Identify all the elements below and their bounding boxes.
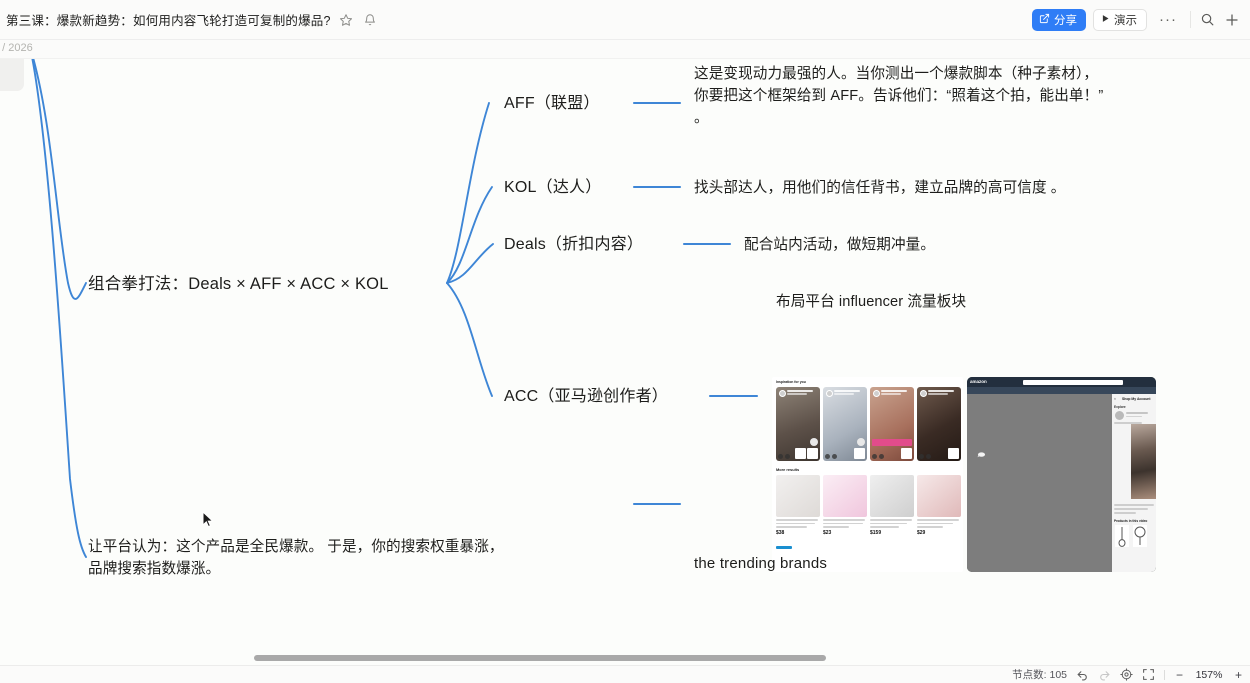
zoom-level-label[interactable]: 157% xyxy=(1194,669,1224,681)
panel-products-heading: Products in this video xyxy=(1114,519,1147,523)
panel-text-line xyxy=(1114,508,1148,510)
product-image xyxy=(776,475,820,517)
product-thumb[interactable] xyxy=(1115,525,1129,547)
toolbar-left-group: 第三课：爆款新趋势：如何用内容飞轮打造可复制的爆品? xyxy=(0,10,1032,29)
panel-product-thumbs xyxy=(1115,525,1147,547)
feed-card[interactable] xyxy=(870,387,914,461)
feed-card[interactable] xyxy=(776,387,820,461)
creator-sub xyxy=(834,393,854,395)
creator-name xyxy=(881,390,907,392)
creator-sub xyxy=(787,393,807,395)
top-toolbar: 第三课：爆款新趋势：如何用内容飞轮打造可复制的爆品? 分享 演示 ··· xyxy=(0,0,1250,40)
product-thumb[interactable] xyxy=(807,448,818,459)
product-thumb[interactable] xyxy=(1133,525,1147,547)
product-card[interactable]: $38 xyxy=(776,475,820,554)
creator-name xyxy=(834,390,860,392)
share-button-label: 分享 xyxy=(1054,12,1077,28)
creator-handle xyxy=(1126,416,1142,418)
zoom-out-button[interactable]: − xyxy=(1174,668,1185,682)
product-price: $159 xyxy=(870,530,914,536)
product-thumb[interactable] xyxy=(854,448,865,459)
undo-icon[interactable] xyxy=(1076,668,1089,681)
node-leaf-trending-brands[interactable]: the trending brands xyxy=(694,553,827,576)
avatar xyxy=(873,390,880,397)
screenshot-amazon-inspiration-feed[interactable]: Inspiration for you xyxy=(772,377,963,572)
card-controls[interactable] xyxy=(919,454,931,459)
toolbar-right-group: 分享 演示 ··· xyxy=(1032,9,1250,31)
node-leaf-deals-detail[interactable]: 配合站内活动，做短期冲量。 xyxy=(744,234,1164,256)
feed-card[interactable] xyxy=(823,387,867,461)
product-card[interactable]: $23 xyxy=(823,475,867,554)
avatar xyxy=(826,390,833,397)
product-price: $38 xyxy=(776,530,820,536)
avatar xyxy=(1115,411,1124,420)
product-image xyxy=(870,475,914,517)
product-grid: $38 $23 $159 $29 xyxy=(776,475,961,554)
fullscreen-icon[interactable] xyxy=(1142,668,1155,681)
product-price: $29 xyxy=(917,530,961,536)
status-divider xyxy=(1164,670,1165,680)
plus-icon[interactable] xyxy=(1223,11,1240,28)
play-icon xyxy=(1101,14,1110,26)
video-preview[interactable] xyxy=(1131,424,1156,499)
amazon-sub-nav: Today's Deals Customer Service Registry … xyxy=(967,387,1156,394)
amazon-logo: amazon xyxy=(970,379,987,384)
node-branch-aff[interactable]: AFF（联盟） xyxy=(504,92,600,116)
badge-icon xyxy=(857,438,865,446)
mouse-cursor xyxy=(202,511,215,528)
share-icon xyxy=(1039,13,1050,27)
prime-badge xyxy=(776,546,792,549)
badge-icon xyxy=(810,438,818,446)
share-button[interactable]: 分享 xyxy=(1032,9,1086,31)
product-card[interactable]: $29 xyxy=(917,475,961,554)
zoom-in-button[interactable]: + xyxy=(1233,668,1244,682)
promo-banner xyxy=(872,439,912,446)
node-root[interactable]: 组合拳打法：Deals × AFF × ACC × KOL xyxy=(88,272,389,297)
amazon-top-nav: amazon xyxy=(967,377,1156,387)
creator-name xyxy=(787,390,813,392)
panel-close-icon[interactable]: × xyxy=(1114,397,1116,401)
star-icon[interactable] xyxy=(338,11,355,28)
panel-text-line xyxy=(1114,504,1154,506)
date-label: 6 / 2026 xyxy=(0,42,33,54)
avatar xyxy=(920,390,927,397)
panel-title: Shop My Account xyxy=(1122,397,1151,401)
card-controls[interactable] xyxy=(825,454,837,459)
present-button-label: 演示 xyxy=(1114,12,1137,28)
loading-cursor-icon xyxy=(977,446,986,454)
toolbar-divider xyxy=(1190,11,1191,28)
shop-panel[interactable]: × Shop My Account Explore Products in th… xyxy=(1112,394,1156,572)
node-branch-deals[interactable]: Deals（折扣内容） xyxy=(504,233,643,257)
card-controls[interactable] xyxy=(778,454,790,459)
sub-header-strip: 6 / 2026 xyxy=(0,40,1250,59)
search-icon[interactable] xyxy=(1199,11,1216,28)
feed-card-row xyxy=(776,387,961,461)
panel-subheading: Explore xyxy=(1114,405,1126,409)
product-thumb[interactable] xyxy=(948,448,959,459)
creator-name xyxy=(1126,412,1148,414)
node-branch-acc[interactable]: ACC（亚马逊创作者） xyxy=(504,385,668,409)
screenshot-amazon-creator-dimmed[interactable]: amazon Today's Deals Customer Service Re… xyxy=(967,377,1156,572)
feed-card[interactable] xyxy=(917,387,961,461)
creator-sub xyxy=(928,393,948,395)
redo-icon[interactable] xyxy=(1098,668,1111,681)
mindmap-app: 第三课：爆款新趋势：如何用内容飞轮打造可复制的爆品? 分享 演示 ··· xyxy=(0,0,1250,683)
creator-sub xyxy=(881,393,901,395)
product-thumb[interactable] xyxy=(901,448,912,459)
horizontal-scrollbar-thumb[interactable] xyxy=(254,655,826,661)
node-leaf-kol-detail[interactable]: 找头部达人，用他们的信任背书，建立品牌的高可信度 。 xyxy=(694,177,1214,199)
product-card[interactable]: $159 xyxy=(870,475,914,554)
node-leaf-aff-detail[interactable]: 这是变现动力最强的人。当你测出一个爆款脚本（种子素材）， 你要把这个框架给到 A… xyxy=(694,63,1239,130)
product-thumb[interactable] xyxy=(795,448,806,459)
creator-name xyxy=(928,390,954,392)
card-controls[interactable] xyxy=(872,454,884,459)
panel-text-line xyxy=(1114,512,1136,514)
node-count-label: 节点数: 105 xyxy=(1012,667,1067,682)
feed-heading-2: More results xyxy=(776,467,799,472)
node-branch-kol[interactable]: KOL（达人） xyxy=(504,176,601,200)
avatar xyxy=(779,390,786,397)
present-button[interactable]: 演示 xyxy=(1093,9,1147,31)
feed-heading: Inspiration for you xyxy=(776,380,806,384)
node-bottom-statement[interactable]: 让平台认为：这个产品是全民爆款。 于是，你的搜索权重暴涨， 品牌搜索指数爆涨。 xyxy=(88,536,628,580)
status-bar: 节点数: 105 − 157% + xyxy=(0,665,1250,683)
more-options-button[interactable]: ··· xyxy=(1154,14,1182,26)
product-image xyxy=(917,475,961,517)
bell-icon[interactable] xyxy=(362,11,379,28)
product-price: $23 xyxy=(823,530,867,536)
document-title[interactable]: 第三课：爆款新趋势：如何用内容飞轮打造可复制的爆品? xyxy=(6,10,331,29)
amazon-search-input[interactable] xyxy=(1023,380,1123,386)
product-image xyxy=(823,475,867,517)
mindmap-canvas[interactable]: 组合拳打法：Deals × AFF × ACC × KOL AFF（联盟） 这是… xyxy=(0,59,1250,647)
node-caption-influencer[interactable]: 布局平台 influencer 流量板块 xyxy=(776,291,966,313)
target-icon[interactable] xyxy=(1120,668,1133,681)
